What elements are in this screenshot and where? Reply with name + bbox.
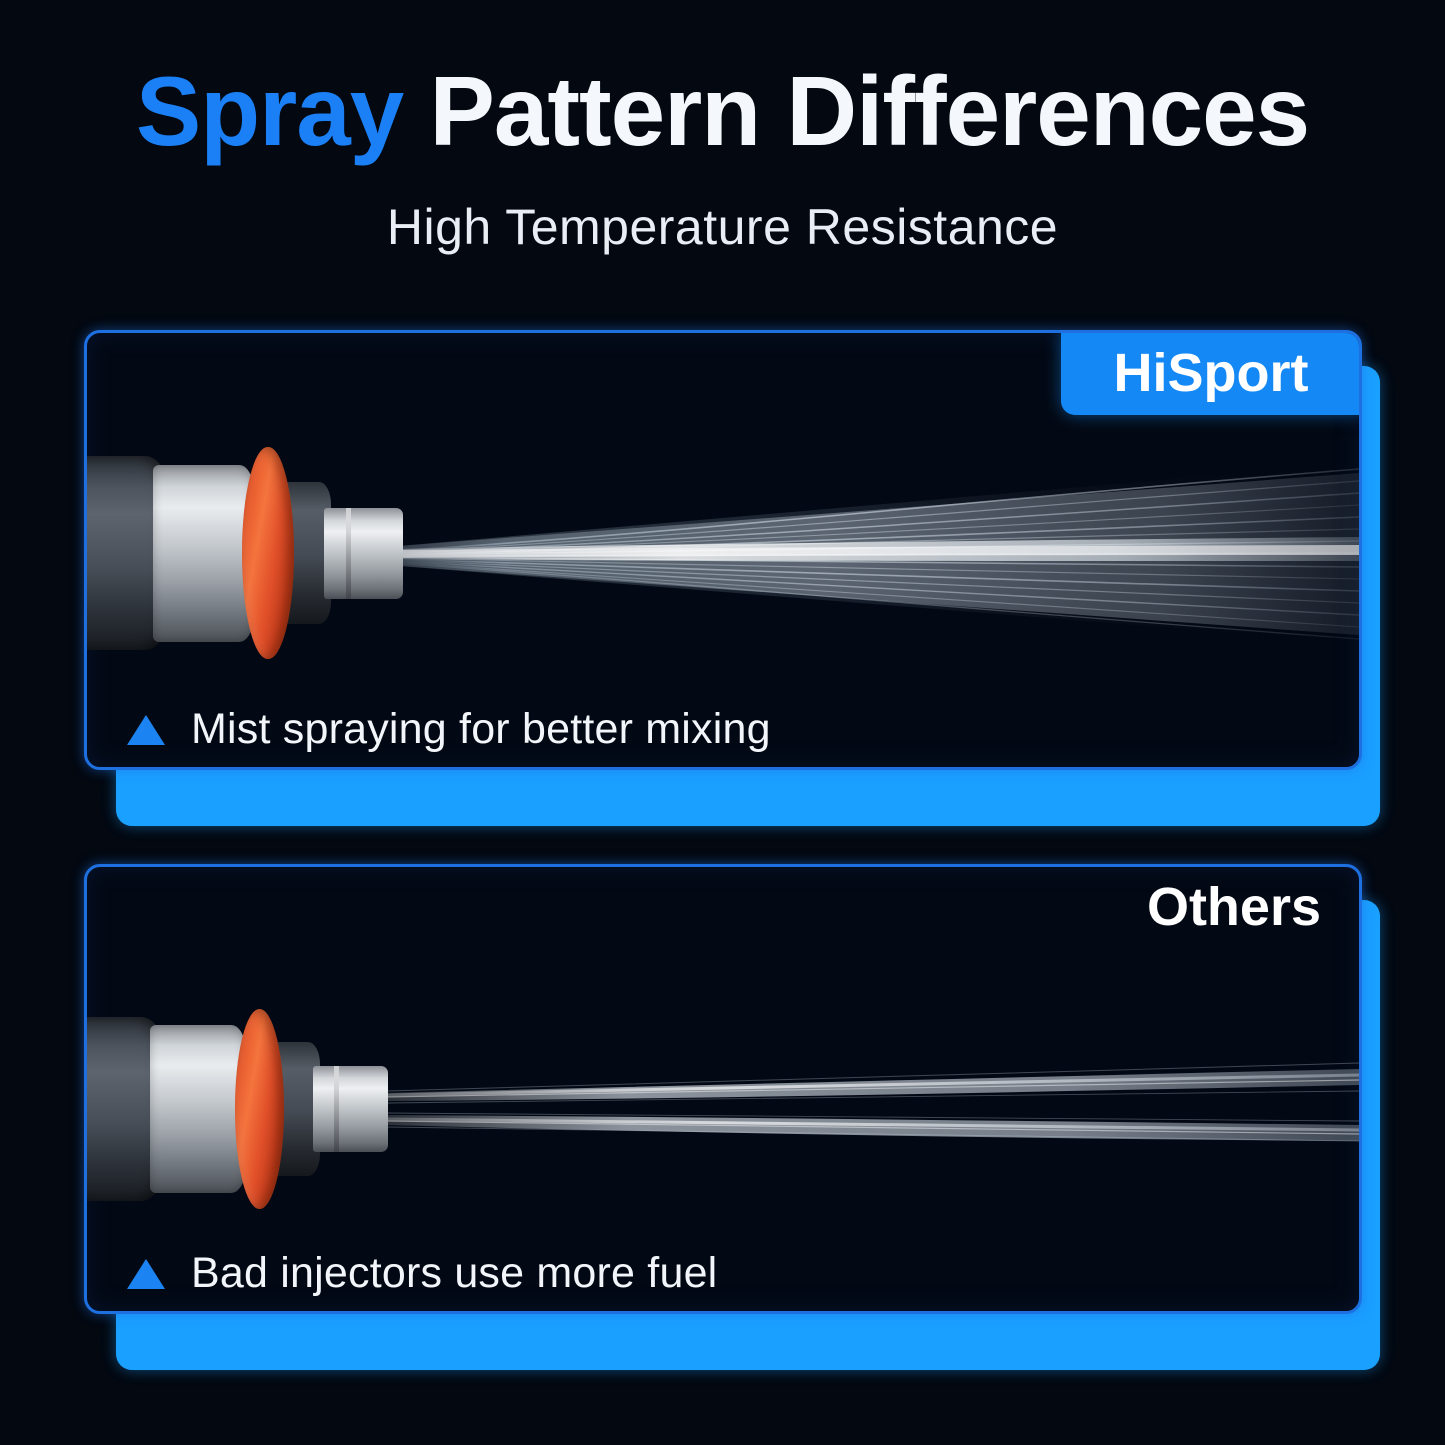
brand-badge-hisport: HiSport	[1061, 331, 1361, 415]
page-subtitle: High Temperature Resistance	[0, 198, 1445, 256]
triangle-up-icon	[127, 715, 165, 745]
injector-steel-sleeve	[150, 1025, 245, 1192]
injector-chrome-nozzle	[324, 508, 402, 599]
caption-text: Bad injectors use more fuel	[191, 1249, 717, 1298]
injector-orange-o-ring	[242, 447, 294, 659]
comparison-panel-others: Others	[84, 864, 1380, 1334]
brand-badge-others: Others	[1061, 865, 1361, 949]
injector-steel-sleeve	[153, 465, 253, 642]
title-rest: Pattern Differences	[429, 56, 1309, 166]
injector-chrome-nozzle	[313, 1066, 388, 1152]
brand-badge-label: HiSport	[1114, 342, 1309, 404]
product-spray-stage	[87, 975, 1359, 1225]
page-title: Spray Pattern Differences	[0, 62, 1445, 160]
panel-card: Others	[84, 864, 1362, 1314]
fuel-injector-image	[87, 443, 431, 659]
nozzle-groove	[346, 508, 351, 599]
comparison-panel-hisport: HiSport	[84, 330, 1380, 790]
injector-orange-o-ring	[235, 1009, 284, 1209]
fuel-injector-image	[87, 1005, 415, 1209]
brand-badge-label: Others	[1147, 876, 1321, 938]
nozzle-groove	[334, 1066, 339, 1152]
header: Spray Pattern Differences High Temperatu…	[0, 0, 1445, 300]
panel-caption-others: Bad injectors use more fuel	[127, 1249, 717, 1298]
product-spray-stage	[87, 429, 1359, 679]
panel-caption-hisport: Mist spraying for better mixing	[127, 705, 771, 754]
infographic-page: Spray Pattern Differences High Temperatu…	[0, 0, 1445, 1445]
title-accent-word: Spray	[136, 56, 403, 166]
caption-text: Mist spraying for better mixing	[191, 705, 771, 754]
triangle-up-icon	[127, 1259, 165, 1289]
panel-card: HiSport	[84, 330, 1362, 770]
